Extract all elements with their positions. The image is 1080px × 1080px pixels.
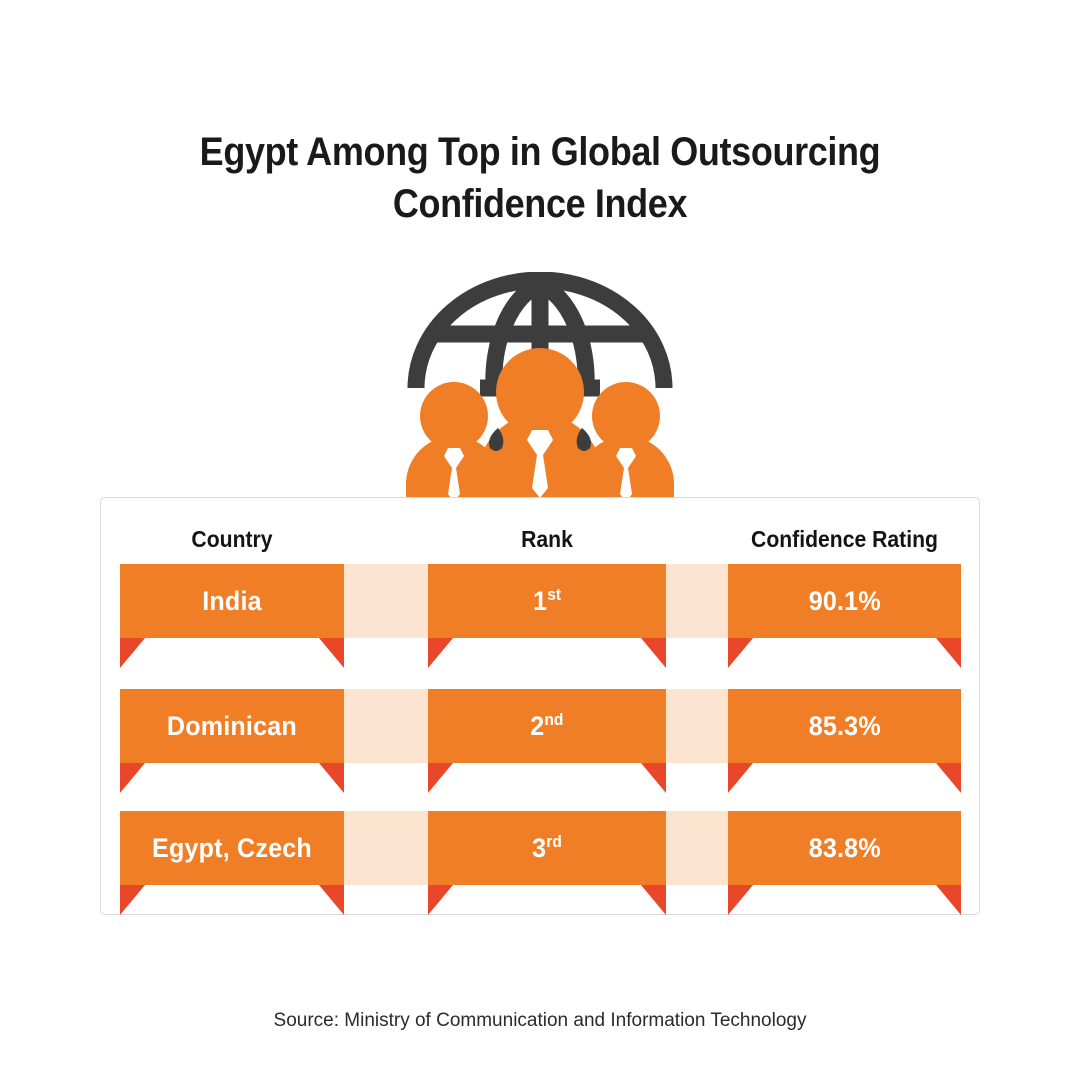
ribbon-band: 85.3% <box>728 689 961 763</box>
table-row: Dominican 2nd 85.3% <box>101 689 981 795</box>
cell-rank-ribbon: 2nd <box>428 689 666 763</box>
ribbon-fold-left <box>728 885 753 915</box>
ribbon-band: 2nd <box>428 689 666 763</box>
ribbon-band: 3rd <box>428 811 666 885</box>
ribbon-fold-right <box>641 763 666 793</box>
cell-country-value: Dominican <box>167 711 297 741</box>
cell-rank-value: 1st <box>533 586 561 616</box>
cell-rating-value: 83.8% <box>808 833 880 863</box>
table-row: India 1st 90.1% <box>101 564 981 670</box>
page-title-line-2: Confidence Index <box>54 178 1026 230</box>
data-card: Country Rank Confidence Rating India <box>100 497 980 915</box>
column-gap <box>666 564 728 638</box>
cell-rank-value: 2nd <box>530 711 563 741</box>
ribbon-fold-left <box>120 885 145 915</box>
ribbon-fold-right <box>936 885 961 915</box>
column-gap <box>344 689 428 763</box>
cell-country-value: Egypt, Czech <box>152 833 312 863</box>
cell-rank-number: 3 <box>532 833 546 863</box>
ribbon-band: 1st <box>428 564 666 638</box>
cell-rating-value: 90.1% <box>808 586 880 616</box>
column-gap <box>666 689 728 763</box>
ribbon-fold-left <box>428 638 453 668</box>
source-note: Source: Ministry of Communication and In… <box>0 1008 1080 1034</box>
cell-rank-ribbon: 3rd <box>428 811 666 885</box>
ribbon-fold-left <box>728 638 753 668</box>
ribbon-fold-right <box>641 885 666 915</box>
cell-country-value: India <box>202 586 262 616</box>
cell-country-ribbon: India <box>120 564 344 638</box>
cell-rank-suffix: rd <box>546 832 562 851</box>
cell-rank-ribbon: 1st <box>428 564 666 638</box>
ribbon-fold-right <box>319 885 344 915</box>
global-team-icon <box>394 272 686 508</box>
ribbon-fold-right <box>936 763 961 793</box>
table-body: India 1st 90.1% <box>101 498 981 916</box>
cell-rank-suffix: st <box>547 585 561 604</box>
cell-rating-ribbon: 90.1% <box>728 564 961 638</box>
ribbon-fold-left <box>728 763 753 793</box>
ribbon-band: Egypt, Czech <box>120 811 344 885</box>
cell-country-ribbon: Dominican <box>120 689 344 763</box>
ribbon-fold-left <box>428 885 453 915</box>
ribbon-band: India <box>120 564 344 638</box>
cell-rating-ribbon: 83.8% <box>728 811 961 885</box>
column-gap <box>344 564 428 638</box>
infographic-canvas: Egypt Among Top in Global Outsourcing Co… <box>0 0 1080 1080</box>
ribbon-band: 83.8% <box>728 811 961 885</box>
ribbon-fold-left <box>120 638 145 668</box>
ribbon-fold-left <box>428 763 453 793</box>
ribbon-fold-left <box>120 763 145 793</box>
cell-rating-ribbon: 85.3% <box>728 689 961 763</box>
cell-rank-number: 1 <box>533 586 547 616</box>
table-row: Egypt, Czech 3rd 83.8% <box>101 811 981 917</box>
ribbon-fold-right <box>936 638 961 668</box>
cell-rank-number: 2 <box>530 711 544 741</box>
page-title: Egypt Among Top in Global Outsourcing Co… <box>54 126 1026 230</box>
column-gap <box>666 811 728 885</box>
ribbon-band: Dominican <box>120 689 344 763</box>
cell-country-ribbon: Egypt, Czech <box>120 811 344 885</box>
ribbon-fold-right <box>319 638 344 668</box>
page-title-line-1: Egypt Among Top in Global Outsourcing <box>54 126 1026 178</box>
cell-rank-suffix: nd <box>545 710 564 729</box>
ribbon-band: 90.1% <box>728 564 961 638</box>
column-gap <box>344 811 428 885</box>
ribbon-fold-right <box>641 638 666 668</box>
cell-rank-value: 3rd <box>532 833 562 863</box>
cell-rating-value: 85.3% <box>808 711 880 741</box>
ribbon-fold-right <box>319 763 344 793</box>
